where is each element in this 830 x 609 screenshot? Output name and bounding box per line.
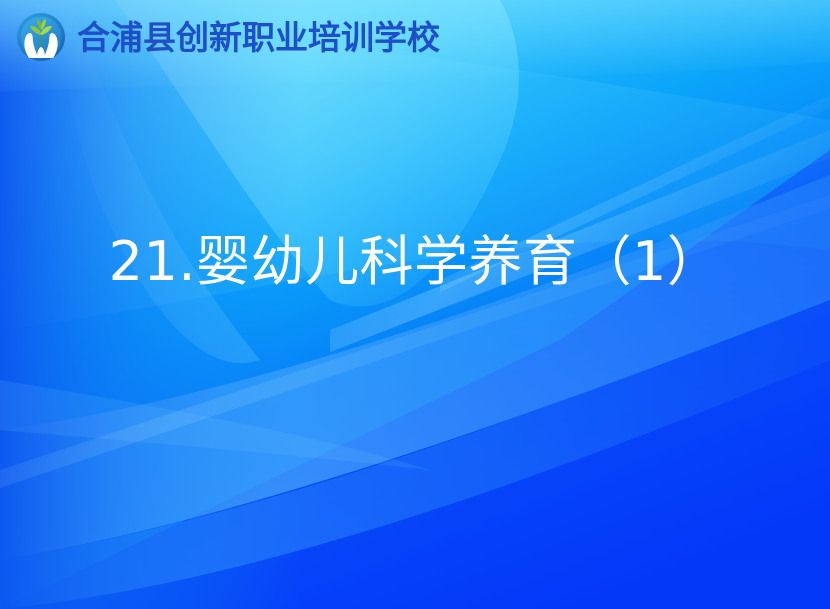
presentation-slide: 合浦县创新职业培训学校 21.婴幼儿科学养育（1） xyxy=(0,0,830,609)
slide-main-title: 21.婴幼儿科学养育（1） xyxy=(109,230,722,294)
slide-background-artwork xyxy=(0,0,830,609)
sprout-in-hands-logo-icon xyxy=(16,12,66,62)
school-name-title: 合浦县创新职业培训学校 xyxy=(77,21,440,54)
slide-title-area: 21.婴幼儿科学养育（1） xyxy=(0,230,830,294)
slide-header: 合浦县创新职业培训学校 xyxy=(0,0,440,74)
